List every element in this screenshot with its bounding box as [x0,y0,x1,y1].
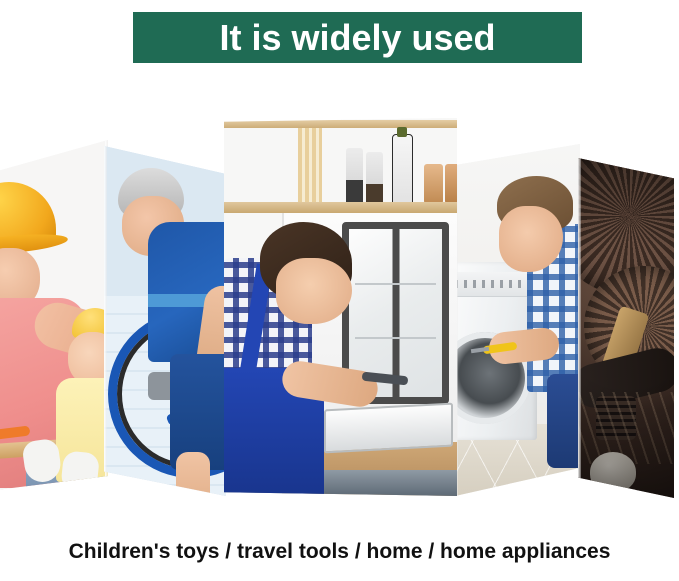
panel-image-dishwasher-repair [224,118,457,496]
scene-children-toys [0,140,108,490]
panel-image-motor-gears [578,158,674,498]
page-title: It is widely used [219,20,495,56]
kitchen-shelf [224,202,457,213]
panel-image-washing-machine-repair [455,144,580,496]
gallery-panel-dishwasher-repair [224,118,457,496]
copper-canister-1 [424,164,443,204]
product-feature-poster: It is widely used [0,0,679,581]
repairman-jeans [547,374,580,468]
scene-dishwasher-repair [224,118,457,496]
scene-washing-machine-repair [455,144,580,496]
oil-bottle [392,134,413,206]
man-leg [176,452,210,496]
scene-motor-gears [578,158,674,498]
footer-caption: Children's toys / travel tools / home / … [0,540,679,564]
panel-image-children-toys [0,140,108,490]
dishwasher-open-door-tray [324,403,453,454]
gallery-panel-bicycle-repair [104,146,226,496]
washing-machine-buttons [455,280,529,288]
dishwasher-rack-line-2 [355,337,436,339]
technician-face [276,258,352,324]
panel-fold-edge [578,158,581,498]
panel-fold-edge [104,146,107,496]
photo-gallery-strip [0,110,679,505]
image-vignette [578,158,674,498]
kitchen-upper-shelf [224,120,457,128]
gallery-panel-motor-gears [578,158,674,498]
scene-bicycle-repair [104,146,226,496]
wooden-utensils [298,128,322,204]
spice-jar-1 [346,148,363,204]
child-sock-right [60,450,100,490]
copper-canister-2 [445,164,457,204]
bottle-cap [397,127,407,137]
header-banner: It is widely used [133,12,582,63]
dishwasher-rack-line-1 [355,283,436,285]
dishwasher-divider [392,229,399,397]
gallery-panel-children-toys [0,140,108,490]
panel-image-bicycle-repair [104,146,226,496]
spice-jar-2 [366,152,383,204]
gallery-panel-washing-machine-repair [455,144,580,496]
